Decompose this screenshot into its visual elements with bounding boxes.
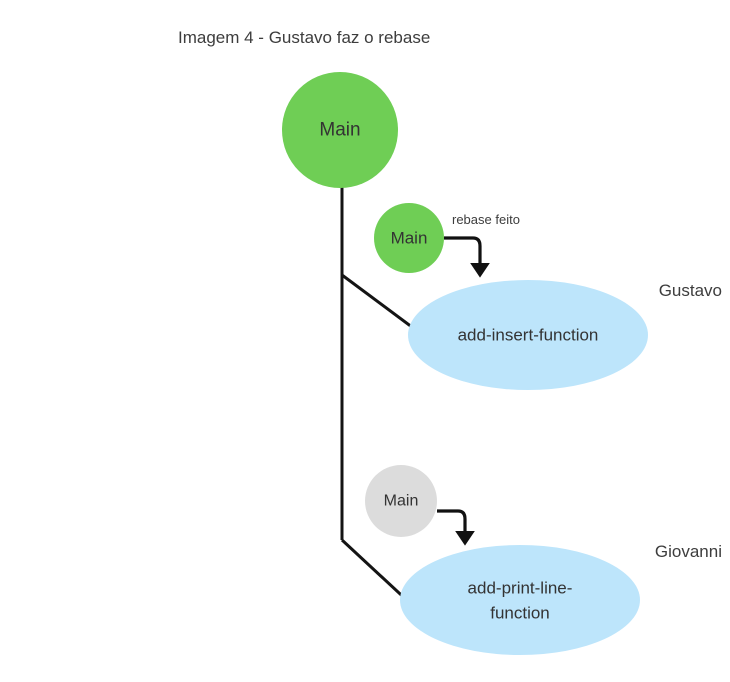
figure-title: Imagem 4 - Gustavo faz o rebase <box>178 28 430 47</box>
add-print-line-function-label-line1: add-print-line- <box>468 579 573 598</box>
giovanni-arrow <box>437 511 465 536</box>
main-gustavo-label: Main <box>391 229 428 248</box>
main-giovanni-label: Main <box>384 493 419 510</box>
node-add-insert-function[interactable]: add-insert-function <box>408 280 648 390</box>
diagram-canvas: Imagem 4 - Gustavo faz o rebase Main Mai… <box>0 0 730 682</box>
node-main-gustavo[interactable]: Main <box>374 203 444 273</box>
rebase-diagram: Imagem 4 - Gustavo faz o rebase Main Mai… <box>0 0 730 682</box>
node-main-giovanni[interactable]: Main <box>365 465 437 537</box>
node-main-root[interactable]: Main <box>282 72 398 188</box>
add-insert-function-label: add-insert-function <box>458 326 599 345</box>
rebase-arrow-label: rebase feito <box>452 212 520 227</box>
main-root-label: Main <box>319 120 360 141</box>
add-print-line-function-label-line2: function <box>490 604 550 623</box>
owner-label-giovanni: Giovanni <box>655 542 722 561</box>
owner-label-gustavo: Gustavo <box>659 281 722 300</box>
add-print-line-function-ellipse <box>400 545 640 655</box>
rebase-arrow <box>444 238 480 268</box>
node-add-print-line-function[interactable]: add-print-line- function <box>400 545 640 655</box>
